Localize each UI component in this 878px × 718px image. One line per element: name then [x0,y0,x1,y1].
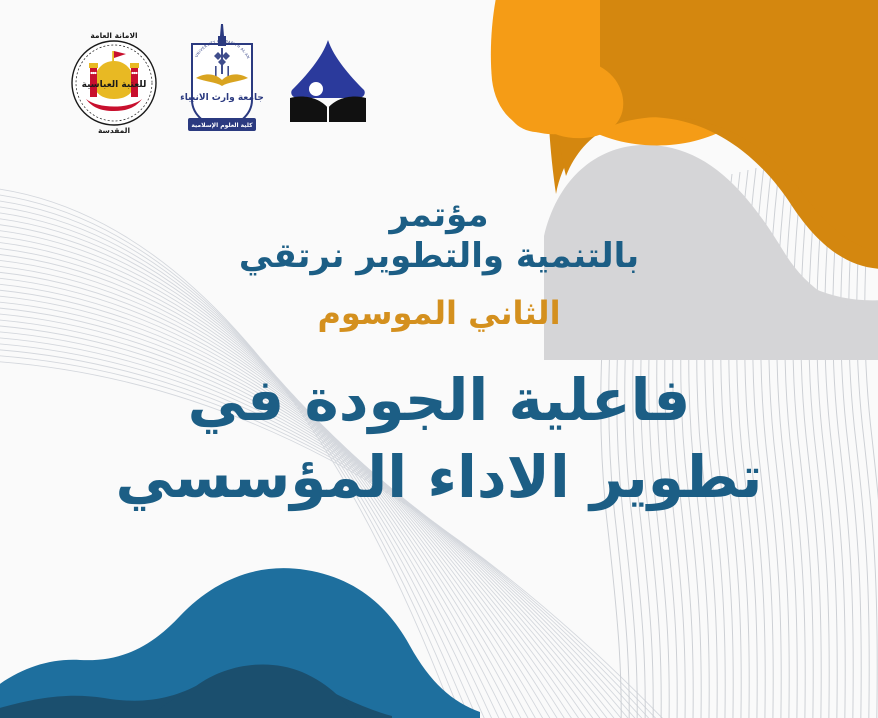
al-abbas-holy-shrine-logo: للعتبة العباسية الامانة العامة المقدسة [66,25,162,137]
conference-title: فاعلية الجودة في تطوير الاداء المؤسسي [0,362,878,515]
emblem-dome-icon [291,40,365,98]
conference-edition: الثاني الموسوم [0,295,878,332]
emblem-dot-icon [309,82,323,96]
emblem-book-gutter [327,107,329,122]
shrine-finial [112,51,114,63]
orange-bright-lobe-right [530,59,624,138]
orange-bright-lobe [491,0,600,134]
blue-wave-dark-right-lobe [150,664,356,718]
orange-blob-bright [500,0,740,146]
university-spire [220,24,224,36]
conference-poster: للعتبة العباسية الامانة العامة المقدسة U… [0,0,878,718]
blue-wave-dark [0,669,392,718]
conference-slogan: بالتنمية والتطوير نرتقي [0,237,878,276]
title-line-1: فاعلية الجودة في [0,362,878,439]
university-main-text: جامعة وارث الانبياء [180,93,264,103]
shrine-center-script: للعتبة العباسية [82,80,147,90]
warith-al-anbiyaa-university-logo: UNIVERSITY OF WARITH AL-ANBIYAA جامعة وا… [178,22,266,140]
blue-wave-light [0,568,480,718]
university-banner-text: كلية العلوم الإسلامية [191,122,253,129]
logo-row: للعتبة العباسية الامانة العامة المقدسة U… [66,22,386,140]
shrine-bottom-text: المقدسة [98,126,130,135]
title-line-2: تطوير الاداء المؤسسي [0,439,878,516]
college-of-islamic-sciences-emblem [282,36,374,126]
shrine-top-text: الامانة العامة [90,31,137,40]
poster-text-block: مؤتمر بالتنمية والتطوير نرتقي الثاني الم… [0,196,878,515]
conference-word: مؤتمر [0,196,878,235]
